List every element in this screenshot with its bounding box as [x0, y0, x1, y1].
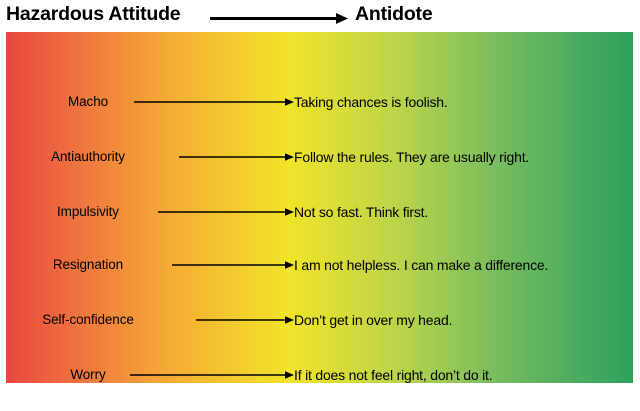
header-antidote-title: Antidote — [355, 3, 432, 26]
diagram-header: Hazardous Attitude Antidote — [0, 0, 640, 32]
right-arrow-icon — [172, 260, 294, 270]
right-arrow-icon — [210, 13, 348, 24]
antidote-text: Not so fast. Think first. — [294, 201, 428, 223]
attitude-row: Self-confidenceDon’t get in over my head… — [6, 309, 633, 331]
antidote-text: Follow the rules. They are usually right… — [294, 146, 529, 168]
antidote-text: If it does not feel right, don’t do it. — [294, 364, 492, 386]
attitude-row: MachoTaking chances is foolish. — [6, 91, 633, 113]
attitude-label: Self-confidence — [6, 309, 170, 331]
attitude-row: ResignationI am not helpless. I can make… — [6, 254, 633, 276]
antidote-text: Taking chances is foolish. — [294, 91, 448, 113]
right-arrow-icon — [196, 315, 294, 325]
attitude-label: Impulsivity — [6, 201, 170, 223]
attitude-label: Antiauthority — [6, 146, 170, 168]
antidote-text: Don’t get in over my head. — [294, 309, 452, 331]
attitude-row: WorryIf it does not feel right, don’t do… — [6, 364, 633, 386]
antidote-text: I am not helpless. I can make a differen… — [294, 254, 548, 276]
header-hazardous-attitude-title: Hazardous Attitude — [6, 3, 180, 26]
attitude-row: AntiauthorityFollow the rules. They are … — [6, 146, 633, 168]
attitude-antidote-gradient-panel: MachoTaking chances is foolish.Antiautho… — [6, 32, 633, 383]
attitude-label: Resignation — [6, 254, 170, 276]
right-arrow-icon — [134, 97, 294, 107]
attitude-row: ImpulsivityNot so fast. Think first. — [6, 201, 633, 223]
right-arrow-icon — [130, 370, 294, 380]
right-arrow-icon — [179, 152, 294, 162]
right-arrow-icon — [158, 207, 294, 217]
